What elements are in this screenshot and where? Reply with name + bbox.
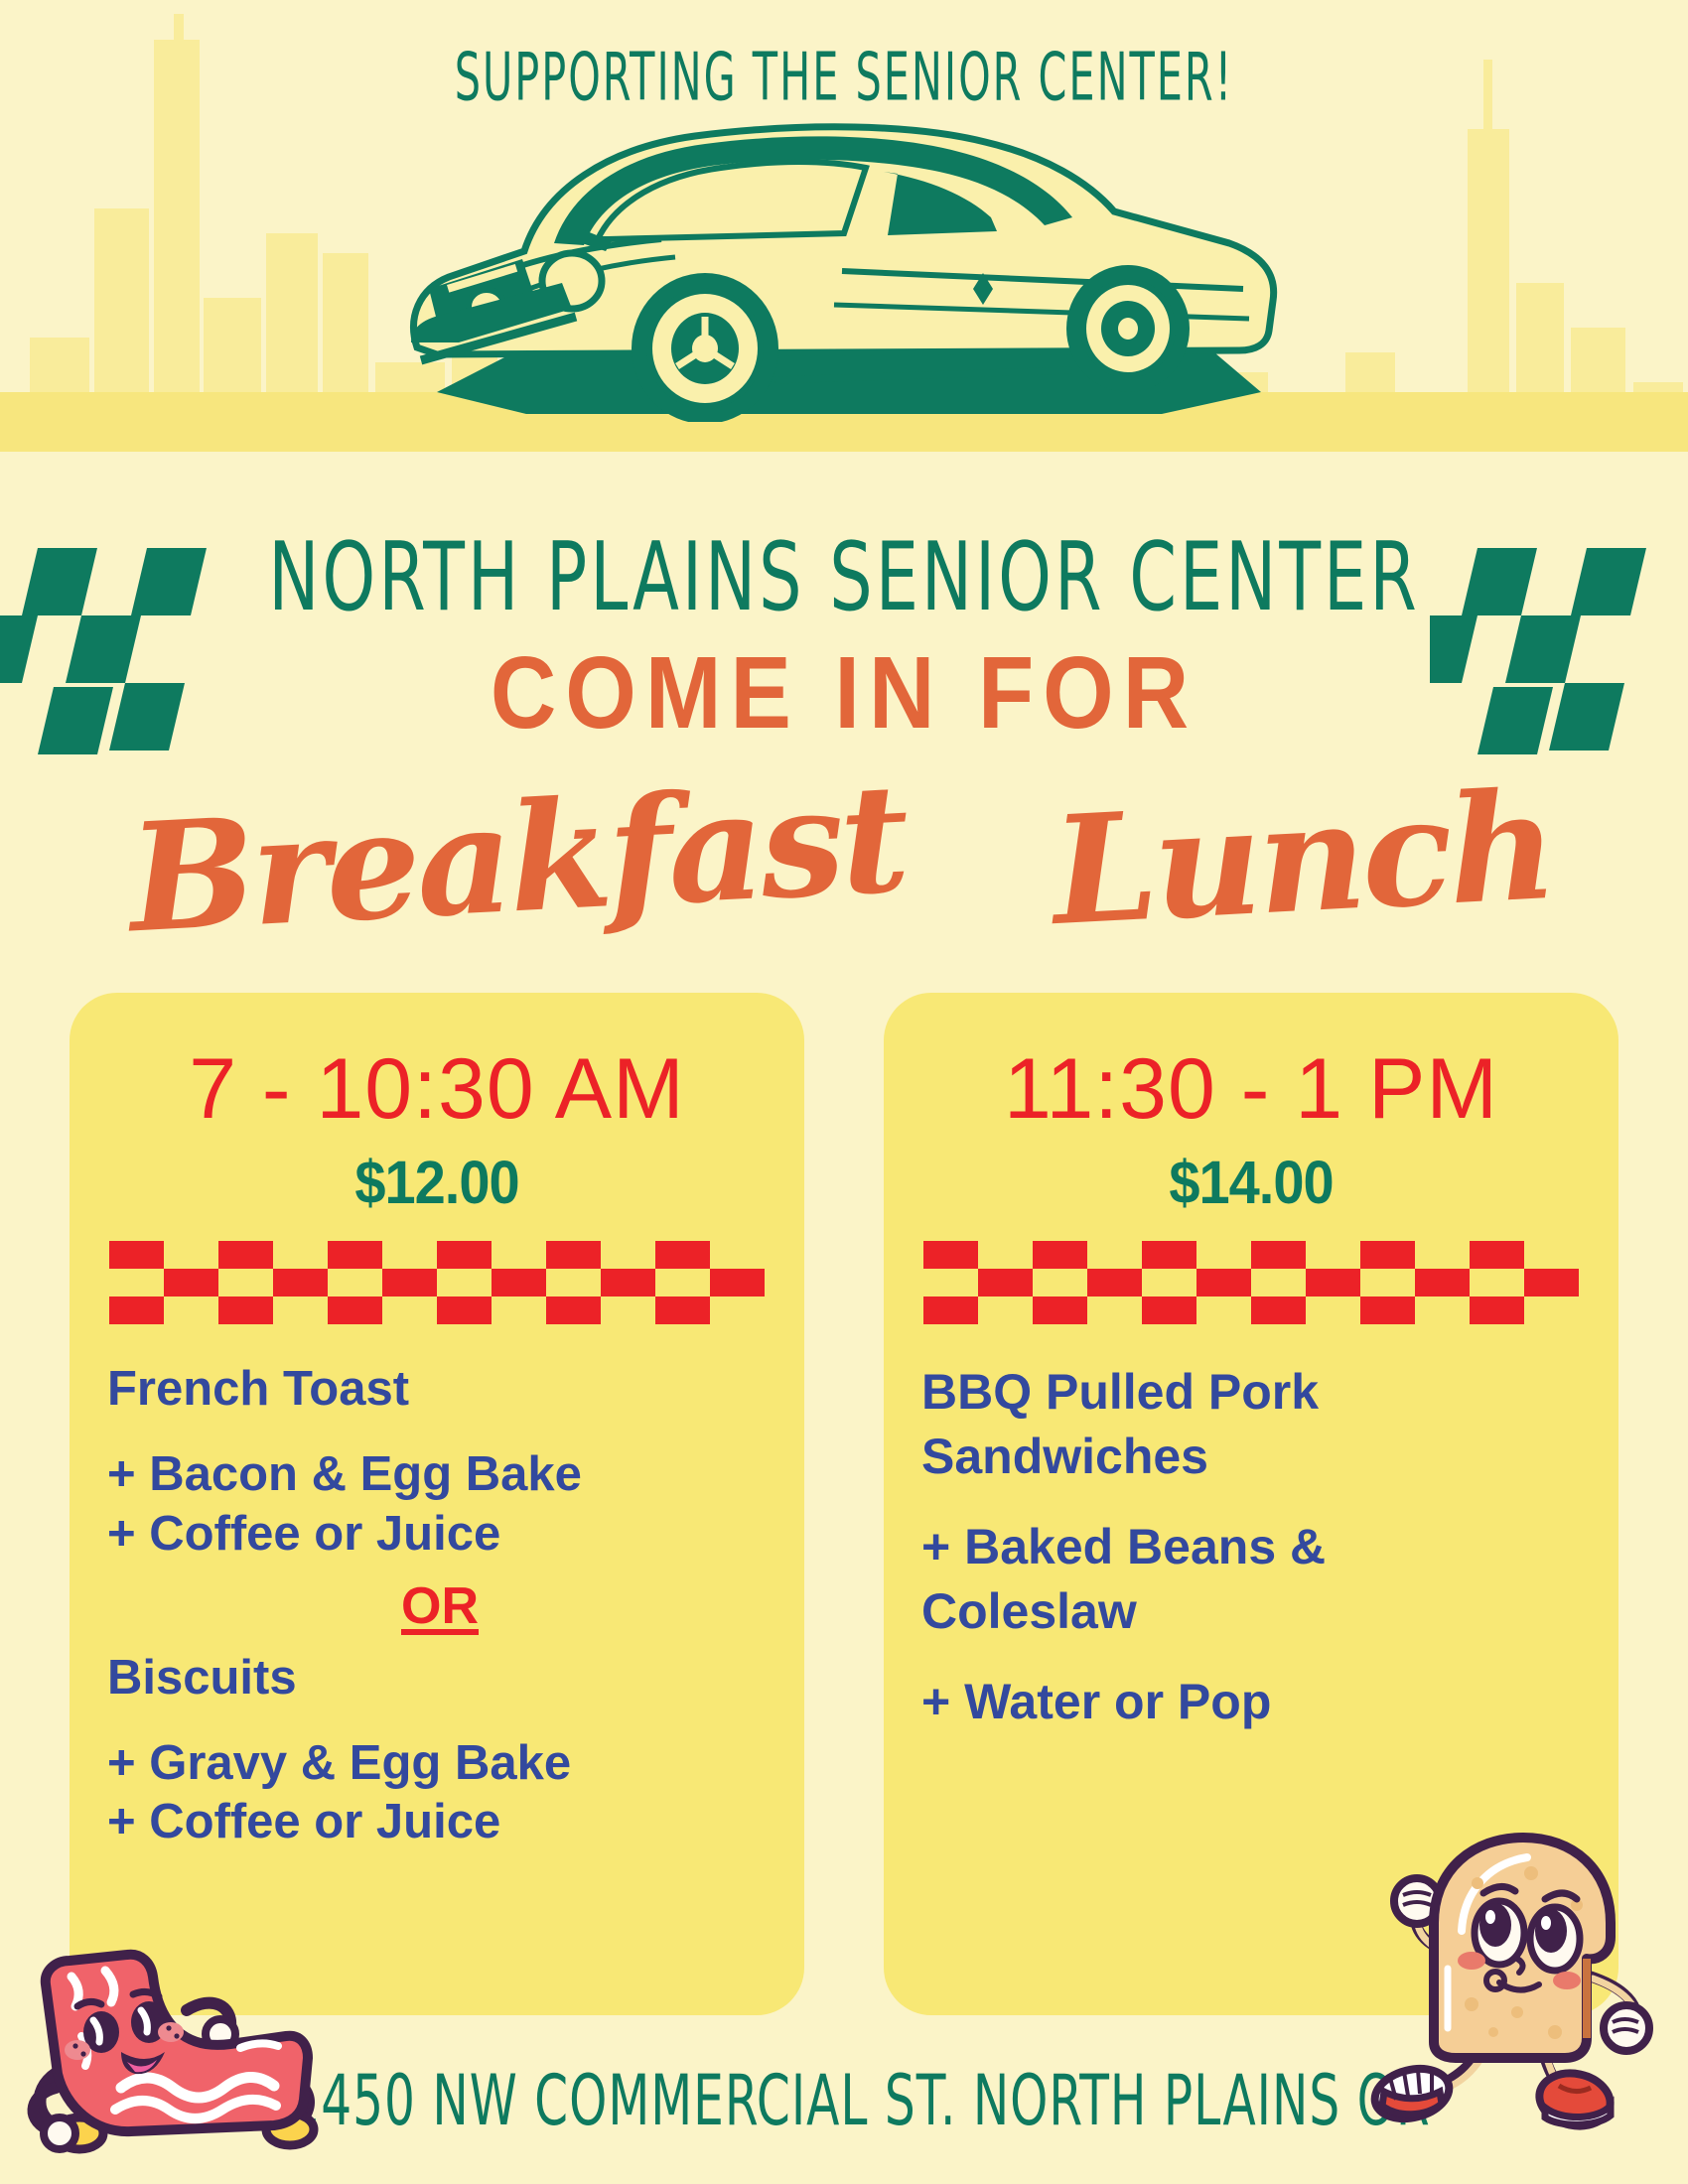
breakfast-menu: French Toast + Bacon & Egg Bake + Coffee… (107, 1360, 773, 1852)
come-in-for-heading: COME IN FOR (0, 635, 1688, 752)
menu-item: Coleslaw (921, 1579, 1587, 1644)
breakfast-or-label: OR (107, 1575, 773, 1638)
page-title: NORTH PLAINS SENIOR CENTER (0, 521, 1688, 631)
bacon-strip-mascot-icon (10, 1941, 338, 2159)
lunch-heading: Lunch (1049, 771, 1556, 946)
lunch-time: 11:30 - 1 PM (884, 1040, 1618, 1139)
menu-item: + Baked Beans & (921, 1515, 1587, 1579)
breakfast-time: 7 - 10:30 AM (70, 1040, 804, 1139)
menu-item: + Coffee or Juice (107, 1793, 773, 1852)
flyer-poster: SUPPORTING THE SENIOR CENTER! (0, 0, 1688, 2184)
menu-item: Sandwiches (921, 1425, 1587, 1489)
classic-mustang-car-icon (377, 94, 1311, 422)
menu-item: + Coffee or Juice (107, 1505, 773, 1565)
lunch-menu: BBQ Pulled Pork Sandwiches + Baked Beans… (921, 1360, 1587, 1734)
menu-item: + Gravy & Egg Bake (107, 1734, 773, 1794)
breakfast-price: $12.00 (70, 1147, 804, 1218)
menu-item: + Bacon & Egg Bake (107, 1445, 773, 1505)
menu-item: BBQ Pulled Pork (921, 1360, 1587, 1425)
menu-item: French Toast (107, 1360, 773, 1420)
menu-item: + Water or Pop (921, 1670, 1587, 1734)
hero-section: SUPPORTING THE SENIOR CENTER! (0, 0, 1688, 452)
menu-item: Biscuits (107, 1649, 773, 1708)
breakfast-card: 7 - 10:30 AM $12.00 French Toast + Bacon… (70, 993, 804, 2015)
breakfast-heading: Breakfast (126, 764, 910, 954)
lunch-price: $14.00 (884, 1147, 1618, 1218)
checkered-strip-icon (923, 1241, 1579, 1324)
running-bread-slice-mascot-icon (1360, 1802, 1678, 2144)
checkered-strip-icon (109, 1241, 765, 1324)
